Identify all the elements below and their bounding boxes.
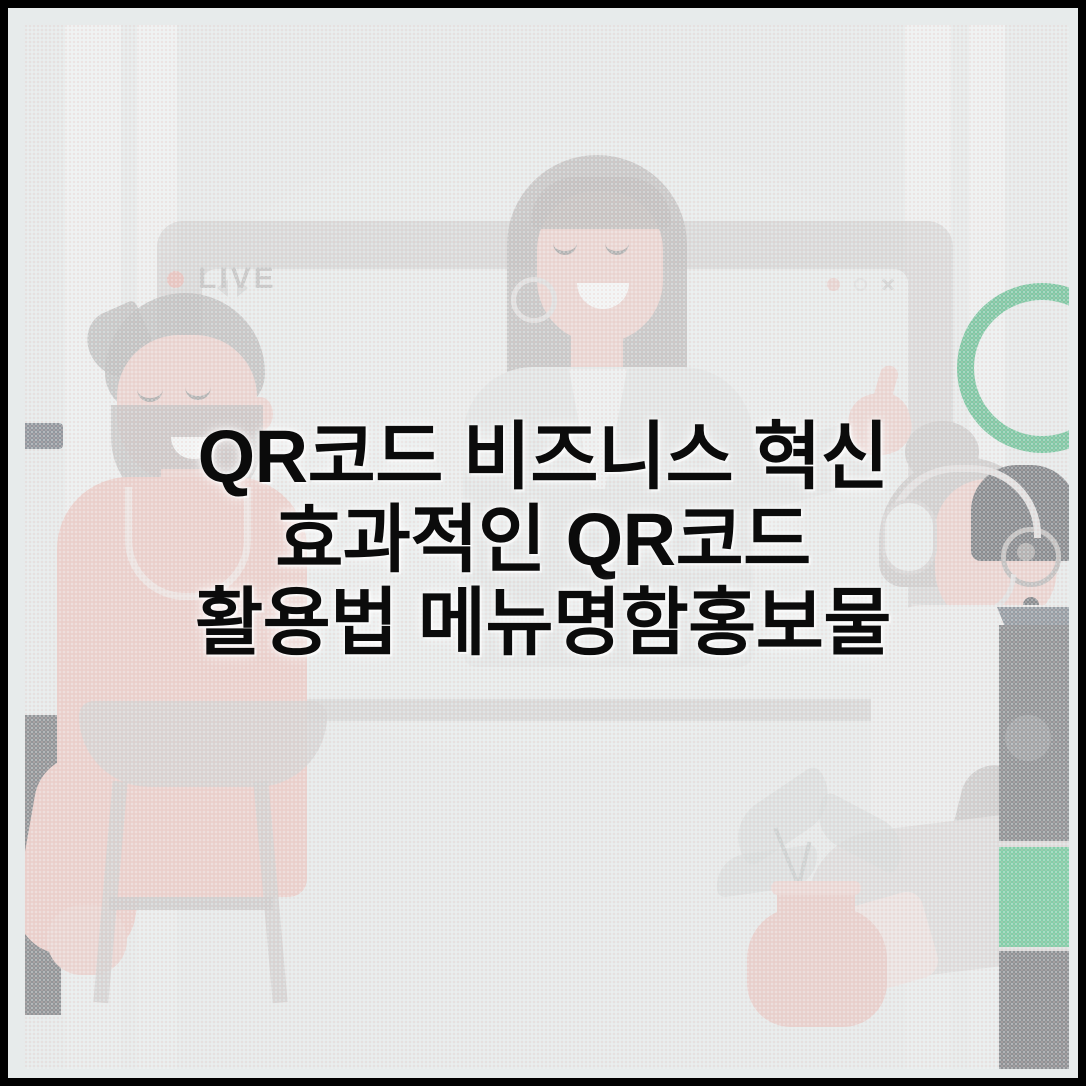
stool-footrest xyxy=(109,897,273,910)
dark-knob-accent xyxy=(1005,715,1051,761)
woman-bangs xyxy=(531,177,671,229)
green-rect-accent xyxy=(999,847,1069,947)
headline-line-1: QR코드 비즈니스 혁신 xyxy=(34,416,1052,499)
potted-plant xyxy=(715,785,915,1025)
hoop-earring-icon xyxy=(511,277,557,323)
circle-filled-icon[interactable] xyxy=(827,278,840,291)
headline-line-3: 활용법 메뉴명함홍보물 xyxy=(34,582,1052,665)
close-x-icon[interactable] xyxy=(881,277,895,291)
headline-line-2: 효과적인 QR코드 xyxy=(34,499,1052,582)
plant-pot xyxy=(747,907,887,1027)
circle-outline-icon[interactable] xyxy=(854,278,867,291)
plant-pot-lip xyxy=(771,881,861,895)
window-controls[interactable] xyxy=(827,277,895,291)
stool-seat xyxy=(79,701,327,787)
plant-leaf-3 xyxy=(806,791,913,876)
thumbnail-canvas: LIVE xyxy=(0,0,1086,1086)
dark-panel-lower xyxy=(999,951,1069,1069)
headline-block: QR코드 비즈니스 혁신 효과적인 QR코드 활용법 메뉴명함홍보물 xyxy=(8,416,1078,665)
live-indicator-dot xyxy=(167,271,184,288)
